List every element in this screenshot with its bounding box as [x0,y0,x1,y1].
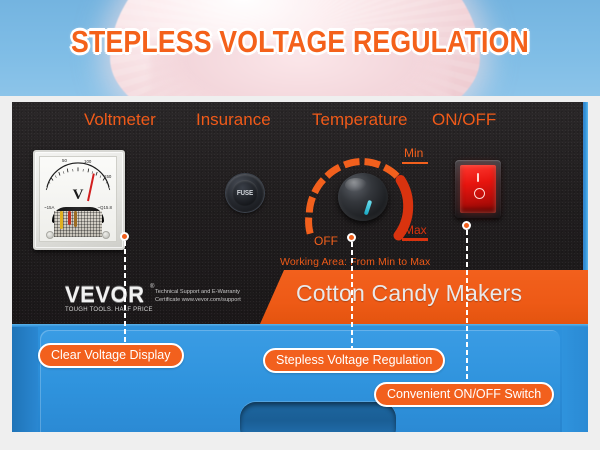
knob-max-tick [402,238,428,241]
caption-temperature: Temperature [312,110,407,130]
fuse-button-inner: FUSE [232,180,258,206]
leader-line-switch [466,230,468,382]
leader-dot-switch [462,221,471,230]
voltmeter-wire-red [68,211,71,225]
leader-line-knob [351,242,353,348]
brand-logo: VEVOR ® TOUGH TOOLS. HALF PRICE [65,284,153,313]
knob-gloss [345,178,367,192]
rocker-off-symbol-icon [474,188,485,199]
product-infographic: STEPLESS VOLTAGE REGULATION Voltmeter In… [0,0,600,450]
knob-min-tick [402,162,428,164]
caption-on-off: ON/OFF [432,110,496,130]
page-title: STEPLESS VOLTAGE REGULATION [42,24,558,60]
power-rocker-switch[interactable] [455,160,501,218]
machine-body-left-edge [12,327,38,432]
leader-line-voltmeter [124,241,126,343]
brand-support-info: Technical Support and E-Warranty Certifi… [155,288,273,304]
machine-body-right-edge [562,327,588,432]
voltmeter-tick-50: 50 [62,158,67,163]
callout-clear-voltage-display[interactable]: Clear Voltage Display [38,343,184,368]
rocker-on-symbol-icon [477,173,479,182]
voltmeter-spec-right: ~Q15.8 [97,205,112,210]
voltmeter-wire-brown [74,211,77,227]
machine-handle [240,402,396,432]
voltmeter-tick-100: 100 [84,159,91,164]
voltmeter-screw-right [102,231,110,239]
knob-indicator [364,200,372,215]
fuse-button[interactable]: FUSE [226,174,264,212]
fuse-label: FUSE [237,190,253,197]
voltmeter-tick-150: 150 [104,174,111,179]
callout-convenient-onoff-switch[interactable]: Convenient ON/OFF Switch [374,382,554,407]
hero-banner: STEPLESS VOLTAGE REGULATION [0,0,600,96]
brand-registered-icon: ® [150,284,154,290]
knob-off-label: OFF [314,234,338,248]
support-line-2: Certificate www.vevor.com/support [155,296,273,304]
callout-stepless-voltage-regulation[interactable]: Stepless Voltage Regulation [263,348,445,373]
temperature-control: Min Max OFF [294,134,430,260]
temperature-knob[interactable] [338,173,388,221]
leader-dot-knob [347,233,356,242]
leader-dot-voltmeter [120,232,129,241]
knob-max-label: Max [404,223,427,237]
voltmeter-spec-left: ~15A [44,205,54,210]
rocker-face [460,165,496,213]
product-name: Cotton Candy Makers [296,280,522,307]
voltmeter-unit-label: V [40,187,116,204]
brand-name: VEVOR [65,284,153,306]
voltmeter-face: 50 100 150 V ~15A ~Q15.8 [39,156,117,242]
voltmeter-wire-yellow [60,211,63,229]
caption-insurance: Insurance [196,110,271,130]
caption-voltmeter: Voltmeter [84,110,156,130]
support-line-1: Technical Support and E-Warranty [155,288,273,296]
working-area-note: Working Area: From Min to Max [280,256,430,268]
machine-body-seam [12,324,588,327]
voltmeter-screw-left [46,231,54,239]
brand-tagline: TOUGH TOOLS. HALF PRICE [65,307,153,313]
product-name-band: Cotton Candy Makers [260,270,588,324]
knob-min-label: Min [404,146,423,160]
voltmeter-gauge: 50 100 150 V ~15A ~Q15.8 [33,150,125,250]
